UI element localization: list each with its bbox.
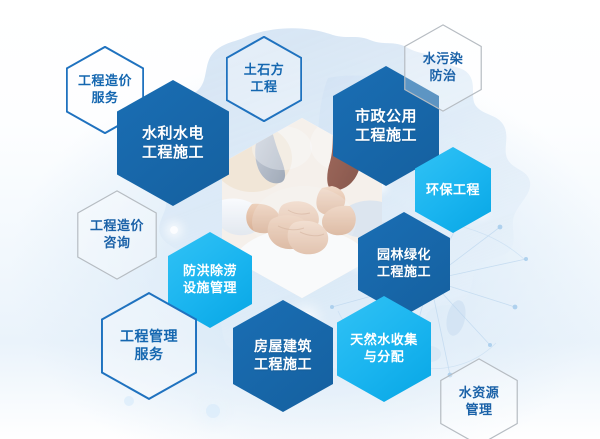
hexagon-fangwu-jianzhu[interactable]: 房屋建筑 工程施工 [233, 300, 333, 412]
hexagon-label: 市政公用 工程施工 [351, 107, 421, 145]
hexagon-shuiziyuan-guanli[interactable]: 水资源 管理 [440, 358, 518, 439]
hexagon-label: 环保工程 [422, 182, 484, 199]
hexagon-label: 园林绿化 工程施工 [373, 247, 435, 280]
hexagon-gongcheng-guanli-fuwu[interactable]: 工程管理 服务 [101, 292, 197, 400]
hexagon-label: 工程管理 服务 [116, 328, 182, 364]
hexagon-label: 天然水收集 与分配 [346, 332, 422, 365]
infographic-canvas: 工程造价 服务土石方 工程水利水电 工程施工市政公用 工程施工水污染 防治环保工… [0, 0, 600, 439]
hexagon-label: 工程造价 咨询 [86, 218, 148, 251]
bokeh-dot [206, 404, 220, 418]
hexagon-label: 土石方 工程 [240, 62, 289, 95]
hexagon-label: 水利水电 工程施工 [138, 124, 208, 162]
hexagon-label: 防洪除涝 设施管理 [179, 263, 241, 296]
hexagon-tianranshui-shouji[interactable]: 天然水收集 与分配 [337, 296, 431, 402]
hexagon-label: 水污染 防治 [419, 51, 468, 84]
hexagon-shuiwuran-fangzhi[interactable]: 水污染 防治 [404, 24, 482, 112]
hexagon-label: 工程造价 服务 [74, 73, 136, 106]
hexagon-tushifang-gongcheng[interactable]: 土石方 工程 [226, 36, 302, 122]
hexagon-gongcheng-zaojia-zixun[interactable]: 工程造价 咨询 [77, 190, 157, 280]
hexagon-label: 房屋建筑 工程施工 [250, 338, 316, 374]
hexagon-label: 水资源 管理 [455, 385, 504, 418]
